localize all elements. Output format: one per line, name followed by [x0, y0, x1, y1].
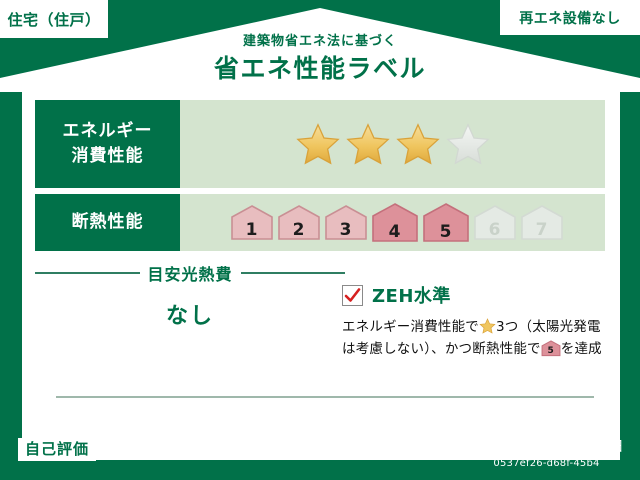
energy-label-line1: エネルギー: [63, 121, 153, 141]
zeh-desc-part3: を達成: [561, 341, 602, 357]
zeh-desc-part1: エネルギー消費性能で: [342, 319, 479, 335]
house-level-number: 5: [541, 347, 561, 356]
house-level-number: 1: [230, 222, 274, 239]
zeh-standard-block: ZEH水準 エネルギー消費性能で3つ（太陽光発電は考慮しない）、かつ断熱性能で5…: [342, 282, 612, 361]
evaluation-date-block: 評価日 2025年4月29日 0537ef26-d68f-45b4: [469, 436, 624, 469]
energy-performance-row: エネルギー 消費性能: [35, 100, 605, 188]
house-icon-level-5: 5: [422, 202, 470, 244]
divider-right: [241, 272, 346, 274]
self-evaluation-row: 自己評価 筑後市蔵数第2(3棟)3号棟24988400300: [18, 438, 352, 461]
house-level-number: 4: [371, 224, 419, 241]
zeh-title-text: ZEH水準: [372, 282, 451, 308]
utility-cost-value: なし: [35, 298, 345, 330]
property-address: 筑後市蔵数第2(3棟)3号棟24988400300: [104, 440, 352, 459]
house-level-number: 2: [277, 222, 321, 239]
page-title: 省エネ性能ラベル: [0, 52, 640, 86]
evaluation-date: 評価日 2025年4月29日: [469, 436, 624, 456]
house-level-number: 5: [422, 224, 470, 241]
label-card: エネルギー 消費性能: [22, 86, 620, 460]
zeh-title-row: ZEH水準: [342, 282, 612, 308]
insulation-level-scale: 1 2 3 4 5: [180, 194, 605, 251]
evaluation-id: 0537ef26-d68f-45b4: [469, 458, 624, 469]
house-icon-level-4: 4: [371, 202, 419, 244]
utility-cost-heading-text: 目安光熱費: [148, 261, 233, 285]
zeh-desc-stars: 3つ（太陽光発電: [496, 319, 601, 335]
star-icon-inline: [479, 318, 496, 334]
zeh-description: エネルギー消費性能で3つ（太陽光発電は考慮しない）、かつ断熱性能で5を達成: [342, 316, 612, 361]
house-level-number: 3: [324, 222, 368, 239]
self-evaluation-badge: 自己評価: [18, 438, 96, 461]
house-icon-inline: 5: [541, 340, 561, 357]
divider-left: [35, 272, 140, 274]
star-rating: [180, 100, 605, 188]
star-icon-filled: [295, 122, 341, 166]
star-icon-filled: [395, 122, 441, 166]
title-block: 建築物省エネ法に基づく 省エネ性能ラベル: [0, 34, 640, 86]
house-level-number: 6: [473, 222, 517, 239]
house-icon-level-7: 7: [520, 204, 564, 242]
house-icon-level-1: 1: [230, 204, 274, 242]
tag-building-type: 住宅（住戸）: [0, 0, 108, 38]
zeh-desc-part2: は考慮しない）、かつ断熱性能で: [342, 341, 541, 357]
house-icon-level-6: 6: [473, 204, 517, 242]
section-divider: [56, 396, 594, 398]
utility-cost-heading: 目安光熱費: [35, 261, 345, 285]
star-icon-empty: [445, 122, 491, 166]
house-icon-level-3: 3: [324, 204, 368, 242]
checkbox-checked-icon: [342, 285, 363, 306]
house-level-number: 7: [520, 222, 564, 239]
energy-performance-label: 住宅（住戸） 再エネ設備なし 建築物省エネ法に基づく 省エネ性能ラベル エネルギ…: [0, 0, 640, 480]
insulation-performance-row: 断熱性能 1 2 3 4: [35, 194, 605, 251]
insulation-performance-label-box: 断熱性能: [35, 194, 180, 251]
energy-performance-label-box: エネルギー 消費性能: [35, 100, 180, 188]
star-icon-filled: [345, 122, 391, 166]
tag-renewable-equipment: 再エネ設備なし: [500, 0, 640, 35]
energy-label-line2: 消費性能: [72, 146, 144, 166]
house-icon-level-2: 2: [277, 204, 321, 242]
